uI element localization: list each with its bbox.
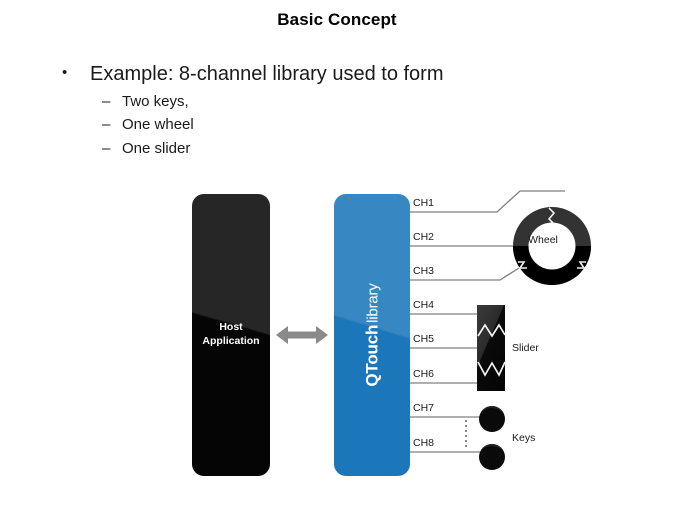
wheel-sensor (513, 207, 591, 285)
channel-label-ch6: CH6 (413, 369, 434, 380)
host-label-line2: Application (202, 335, 259, 349)
channel-label-ch7: CH7 (413, 403, 434, 414)
bidirectional-arrow-icon (276, 326, 328, 344)
channel-label-ch2: CH2 (413, 232, 434, 243)
qtouch-logo-strong: QTouch (363, 325, 382, 387)
channel-label-ch5: CH5 (413, 334, 434, 345)
host-label-line1: Host (219, 321, 242, 335)
key-sensor-top (479, 406, 505, 432)
channel-label-ch4: CH4 (413, 300, 434, 311)
concept-diagram: Host Application QTouchlibrary CH1 CH2 C… (0, 0, 674, 506)
qtouch-logo-light: library (365, 283, 382, 322)
slider-sensor (477, 305, 505, 391)
keys-label: Keys (512, 433, 535, 444)
host-application-label: Host Application (192, 194, 270, 476)
channel-label-ch1: CH1 (413, 198, 434, 209)
key-sensor-bottom (479, 444, 505, 470)
channel-label-ch8: CH8 (413, 438, 434, 449)
channel-label-ch3: CH3 (413, 266, 434, 277)
host-application-box: Host Application (192, 194, 270, 476)
slider-label: Slider (512, 343, 539, 354)
qtouch-library-box: QTouchlibrary (334, 194, 410, 476)
wheel-label: Wheel (516, 234, 570, 246)
qtouch-logo: QTouchlibrary (364, 283, 381, 386)
